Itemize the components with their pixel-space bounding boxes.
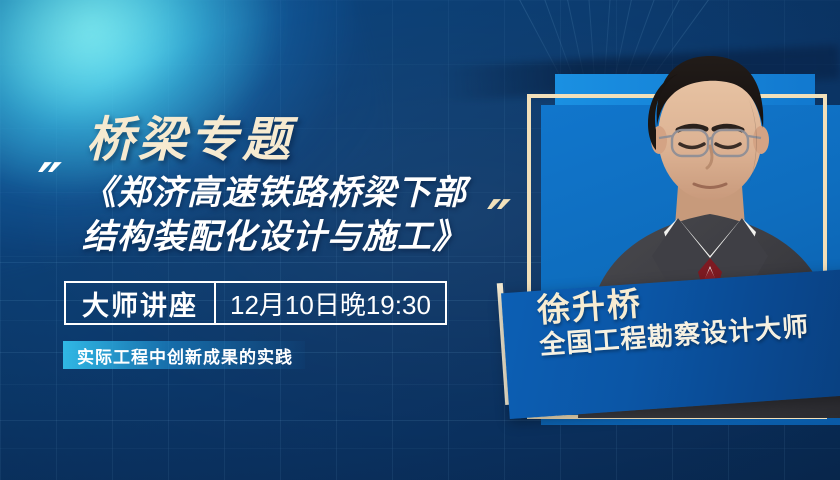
book-title-line-2: 结构装配化设计与施工》 xyxy=(82,216,502,260)
lecture-label: 大师讲座 xyxy=(66,283,214,323)
page-title: 桥梁专题 xyxy=(86,100,294,170)
sub-banner: 实际工程中创新成果的实践 xyxy=(63,341,305,369)
lecture-info-box: 大师讲座 12月10日晚19:30 xyxy=(64,281,447,325)
quote-open-icon: ″ xyxy=(38,168,62,200)
poster-canvas: 徐升桥 全国工程勘察设计大师 桥梁专题 ″ ″ 《郑济高速铁路桥梁下部 结构装配… xyxy=(0,0,840,480)
lecture-datetime: 12月10日晚19:30 xyxy=(216,283,445,323)
book-title: 《郑济高速铁路桥梁下部 结构装配化设计与施工》 xyxy=(82,172,502,259)
book-title-line-1: 《郑济高速铁路桥梁下部 xyxy=(82,172,502,216)
